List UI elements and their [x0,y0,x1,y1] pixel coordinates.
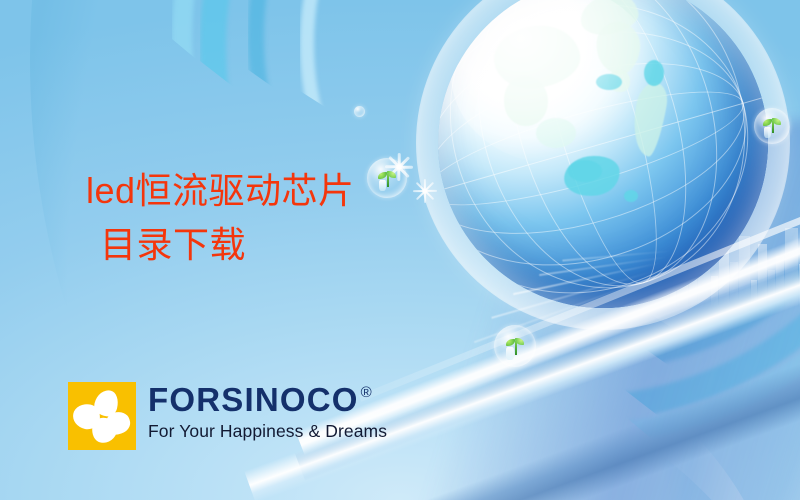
promo-banner: led恒流驱动芯片 目录下载 FORSINOCO ® For Your Happ… [0,0,800,500]
company-logo: FORSINOCO ® For Your Happiness & Dreams [68,382,387,450]
brand-name: FORSINOCO [148,383,359,417]
brand-tagline: For Your Happiness & Dreams [148,420,387,442]
bubble-small-icon [354,106,365,117]
logo-wordmark: FORSINOCO ® For Your Happiness & Dreams [148,382,387,442]
registered-trademark-icon: ® [361,385,372,400]
headline-line-1: led恒流驱动芯片 [86,164,506,218]
bubble-with-green-sprout-icon [754,108,790,144]
headline: led恒流驱动芯片 目录下载 [86,164,506,272]
four-petal-pinwheel-icon [68,382,136,450]
headline-line-2: 目录下载 [86,218,506,272]
